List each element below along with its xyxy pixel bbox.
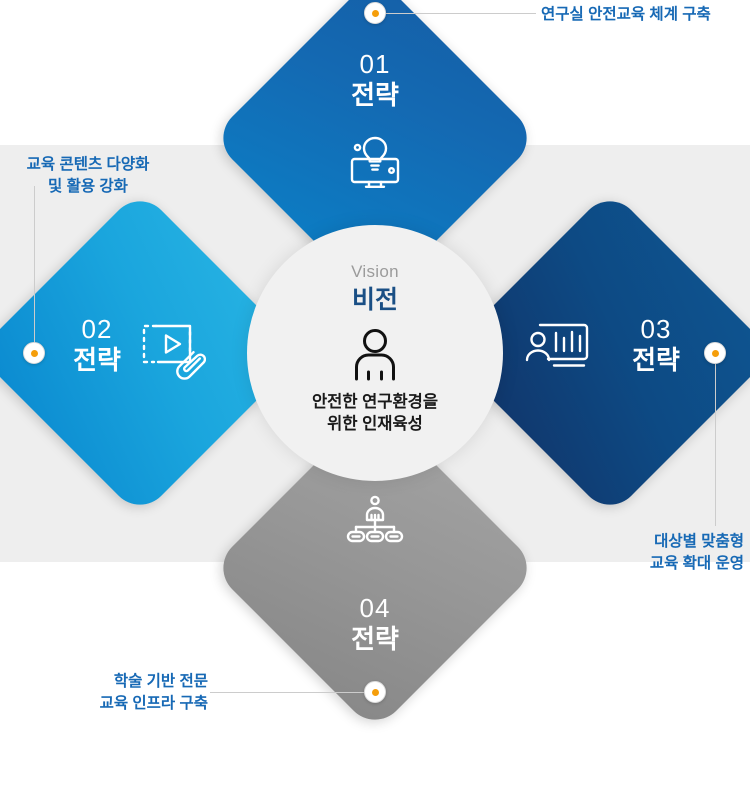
callout-strategy-01: 연구실 안전교육 체계 구축 (541, 4, 711, 26)
callout-strategy-02: 교육 콘텐츠 다양화 및 활용 강화 (8, 154, 168, 198)
strategy-04-name: 전략 (259, 625, 491, 654)
vision-label-ko: 비전 (352, 287, 398, 315)
diagram-canvas: 01 전략 02 전략 (0, 0, 750, 720)
strategy-02-label: 02 전략 (62, 315, 132, 375)
leader-line-right (715, 364, 716, 526)
vision-label-en: Vision (351, 263, 399, 280)
leader-line-bottom (210, 692, 365, 693)
person-icon (352, 327, 398, 383)
strategy-03-label: 03 전략 (618, 315, 694, 375)
video-attachment-icon (136, 319, 206, 381)
strategy-01-name: 전략 (259, 81, 491, 110)
strategy-04-number: 04 (259, 594, 491, 623)
connector-dot-right[interactable] (704, 342, 726, 364)
vision-description: 안전한 연구환경을 위한 인재육성 (312, 391, 438, 436)
connector-dot-bottom[interactable] (364, 681, 386, 703)
strategy-diamond-02-content: 02 전략 (24, 237, 256, 469)
lightbulb-monitor-icon (345, 134, 405, 192)
leader-line-top (386, 13, 536, 14)
callout-strategy-04: 학술 기반 전문 교육 인프라 구축 (78, 671, 208, 715)
strategy-01-label: 01 전략 (259, 50, 491, 110)
strategy-diamond-03-content: 03 전략 (494, 237, 726, 469)
strategy-02-number: 02 (62, 315, 132, 344)
strategy-diamond-01-content: 01 전략 (259, 22, 491, 254)
vision-circle[interactable]: Vision 비전 안전한 연구환경을 위한 인재육성 (247, 225, 503, 481)
strategy-03-number: 03 (618, 315, 694, 344)
strategy-04-label: 04 전략 (259, 594, 491, 654)
leader-line-left (34, 186, 35, 343)
callout-strategy-03: 대상별 맞춤형 교육 확대 운영 (620, 531, 744, 575)
connector-dot-left[interactable] (23, 342, 45, 364)
strategy-03-name: 전략 (618, 346, 694, 375)
presentation-chart-person-icon (524, 319, 592, 379)
connector-dot-top[interactable] (364, 2, 386, 24)
strategy-02-name: 전략 (62, 346, 132, 375)
strategy-01-number: 01 (259, 50, 491, 79)
strategy-diamond-04-content: 04 전략 (259, 452, 491, 684)
org-chart-icon (345, 494, 405, 550)
